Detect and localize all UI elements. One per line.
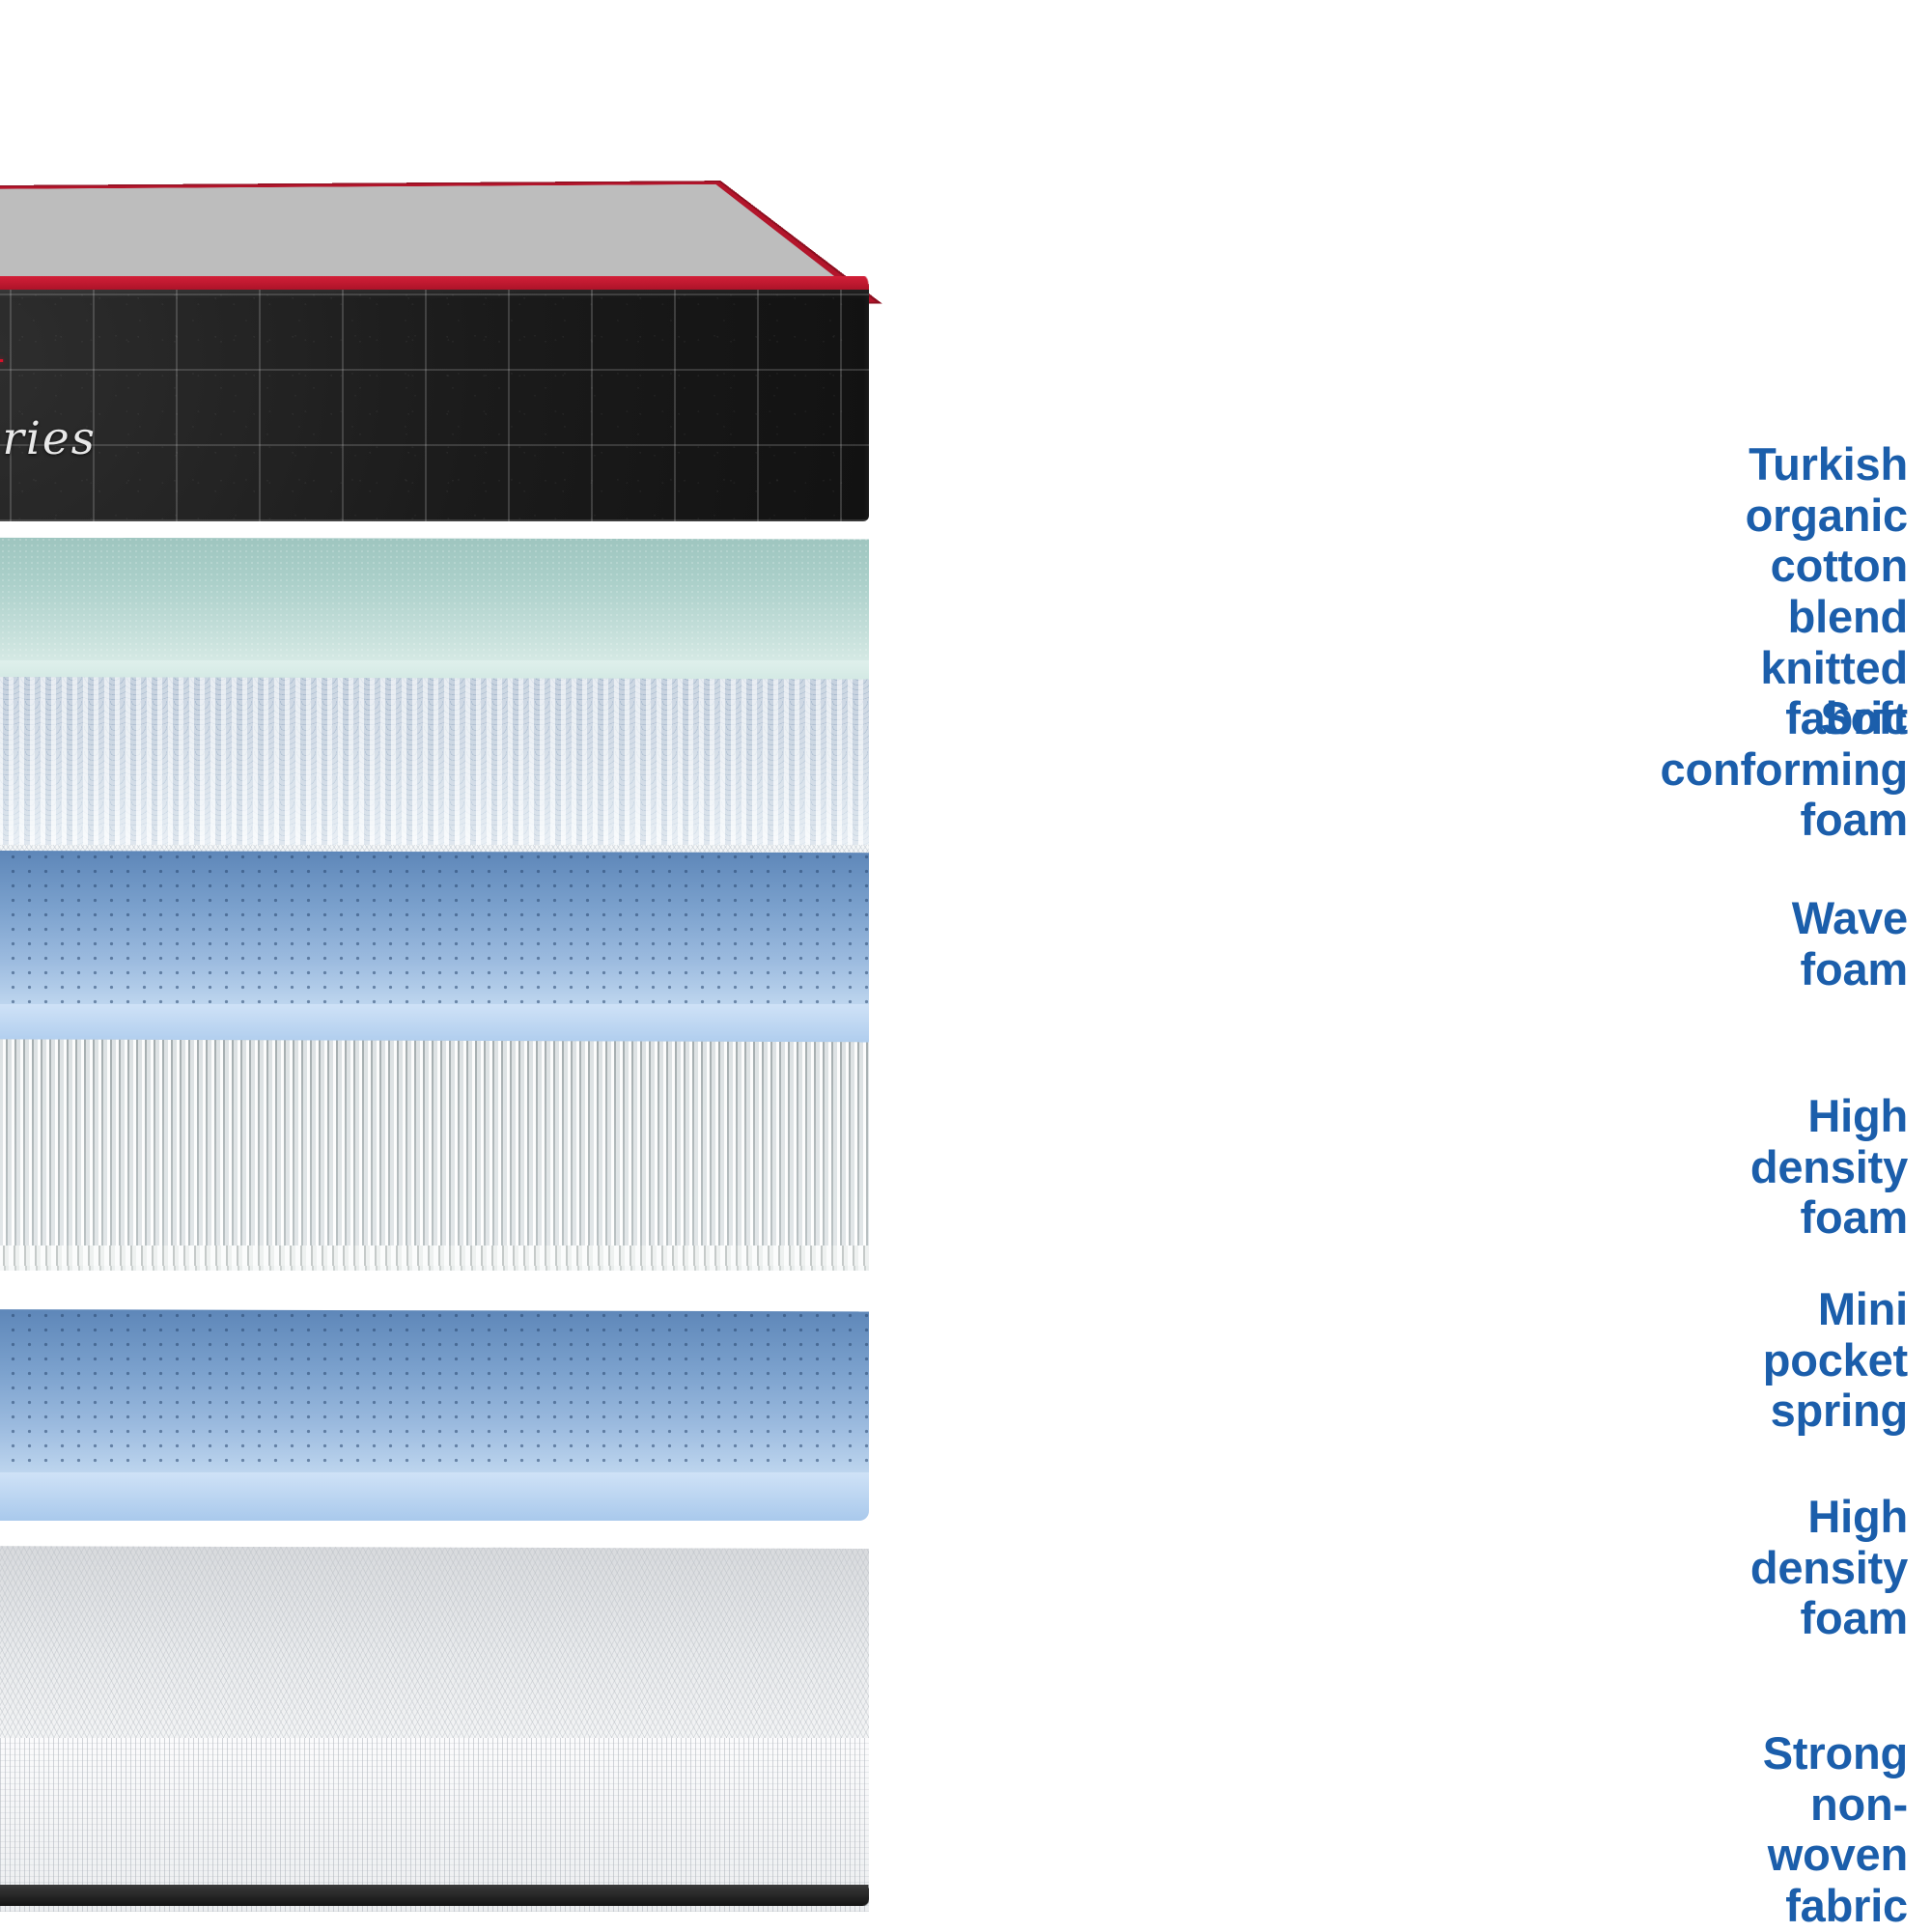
wave-foam-top [0,676,869,845]
mattress-quilted-top [0,0,869,303]
hd-foam-upper-top [0,850,869,1004]
soft-foam-top [0,537,869,660]
base-fabric-top [0,1545,869,1738]
brand-maker: by Zzz Atelier [0,376,97,397]
layer-wave-foam [0,676,869,845]
pocket-spring-top [0,1038,869,1246]
callout-label-hd-upper: High density foam [1750,1091,1908,1244]
callout-label-spring: Mini pocket spring [1763,1284,1908,1437]
brand-series: Chiropedic Series [0,412,97,465]
callout-label-soft: Soft conforming foam [1661,693,1908,846]
layer-high-density-foam-lower [0,1308,869,1472]
brand-name: RED LABEL [0,328,97,372]
brand-mark: RED LABEL by Zzz Atelier Chiropedic Seri… [0,328,97,465]
hd-foam-lower-top [0,1308,869,1472]
layer-mini-pocket-spring [0,1038,869,1246]
layer-high-density-foam-upper [0,850,869,1004]
callout-label-hd-lower: High density foam [1750,1492,1908,1644]
mattress-side-panel: RED LABEL by Zzz Atelier Chiropedic Seri… [0,290,869,521]
layer-non-woven-base [0,1545,869,1738]
layer-soft-conforming-foam [0,537,869,660]
callout-label-base: Strong non-woven fabric [1763,1728,1908,1932]
callout-label-wave: Wave foam [1792,893,1908,994]
base-shadow [0,1885,869,1906]
pocket-spring-coils [0,1246,869,1286]
side-panel-grain [0,290,869,521]
hd-foam-lower-side [0,1472,869,1521]
mattress-layers-infographic: RED LABEL by Zzz Atelier Chiropedic Seri… [0,0,1931,1931]
